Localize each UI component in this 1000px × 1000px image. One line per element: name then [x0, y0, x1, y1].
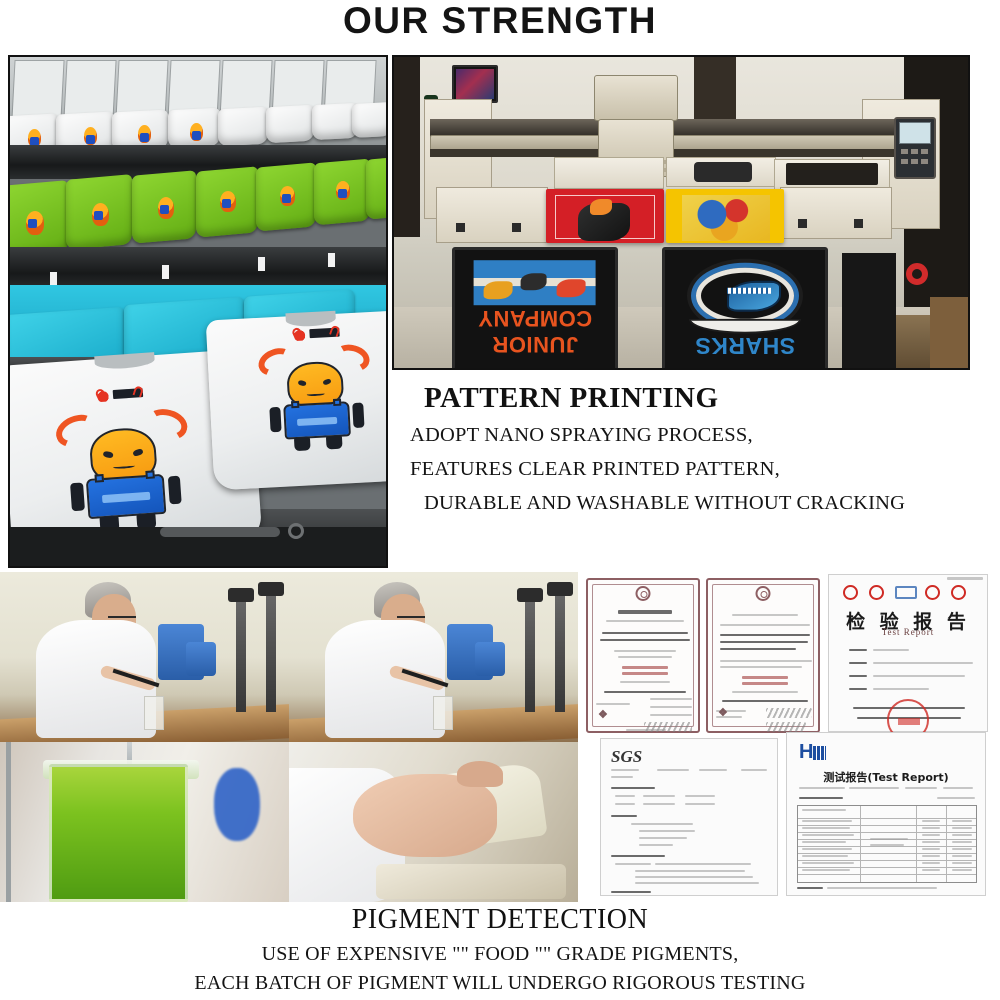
pigment-detection-text-block: PIGMENT DETECTION USE OF EXPENSIVE "" FO…	[0, 900, 1000, 1000]
shark-graphic	[681, 257, 809, 331]
page-title: OUR STRENGTH	[0, 0, 1000, 44]
pattern-printing-line-1: ADOPT NANO SPRAYING PROCESS,	[392, 418, 992, 452]
beaker-green-liquid	[49, 764, 188, 902]
pattern-printing-line-2: FEATURES CLEAR PRINTED PATTERN,	[392, 452, 992, 486]
sgs-logo: SGS	[611, 747, 642, 767]
certificates-area: ❖ ❖	[580, 572, 1000, 902]
surf-graphic	[474, 260, 596, 305]
printer-carriage-top	[594, 75, 678, 121]
page-root: OUR STRENGTH	[0, 0, 1000, 1000]
background-blue-object	[214, 768, 260, 842]
printer-monitor	[452, 65, 498, 103]
shirt-text-junior-company: JUNIOR COMPANY	[455, 305, 615, 357]
photo-lab-technician-left	[0, 572, 289, 742]
brand-mark-small-2	[292, 326, 340, 341]
shirt-row-green	[8, 165, 388, 251]
pattern-printing-line-3: DURABLE AND WASHABLE WITHOUT CRACKING	[392, 486, 992, 520]
printed-shirt-yellow	[666, 189, 784, 243]
photo-flatbed-printer: JUNIOR COMPANY SHARKS	[392, 55, 970, 370]
printed-shirt-red	[546, 189, 664, 243]
pigment-detection-line-1: USE OF EXPENSIVE "" FOOD "" GRADE PIGMEN…	[0, 940, 1000, 969]
printer-control-panel[interactable]	[894, 117, 936, 179]
pigment-detection-heading: PIGMENT DETECTION	[0, 900, 1000, 940]
shirt-text-sharks: SHARKS	[665, 332, 825, 359]
certificate-iso-chinese: ❖	[586, 578, 700, 733]
certificate-sgs-report: SGS	[600, 738, 778, 896]
photo-hands-fabric-sample	[289, 742, 578, 902]
printed-shirt-bull-right	[206, 310, 388, 491]
certificate-inspection-report: 检 验 报 告 Test Report	[828, 574, 988, 732]
printed-shirt-junior-company: JUNIOR COMPANY	[452, 247, 618, 370]
bull-mascot-graphic-2	[263, 342, 368, 451]
photo-lab-technician-right	[289, 572, 578, 742]
inspection-report-title-en: Test Report	[829, 627, 987, 637]
pattern-printing-heading: PATTERN PRINTING	[392, 378, 992, 418]
bull-mascot-graphic	[61, 406, 187, 534]
certificate-iso-english: ❖	[706, 578, 820, 733]
h-report-title: 测试报告(Test Report)	[787, 769, 985, 785]
photo-screen-printing-carousel	[8, 55, 388, 568]
pigment-detection-line-2: EACH BATCH OF PIGMENT WILL UNDERGO RIGOR…	[0, 969, 1000, 998]
certificate-h-report: H 测试报告(Test Report)	[786, 732, 986, 896]
brand-mark-small	[96, 386, 144, 402]
pattern-printing-text-block: PATTERN PRINTING ADOPT NANO SPRAYING PRO…	[392, 378, 992, 558]
h-report-table	[797, 805, 977, 883]
photo-green-pigment-beaker	[0, 742, 289, 902]
printed-shirt-sharks: SHARKS	[662, 247, 828, 370]
h-brand-logo: H	[799, 741, 826, 764]
